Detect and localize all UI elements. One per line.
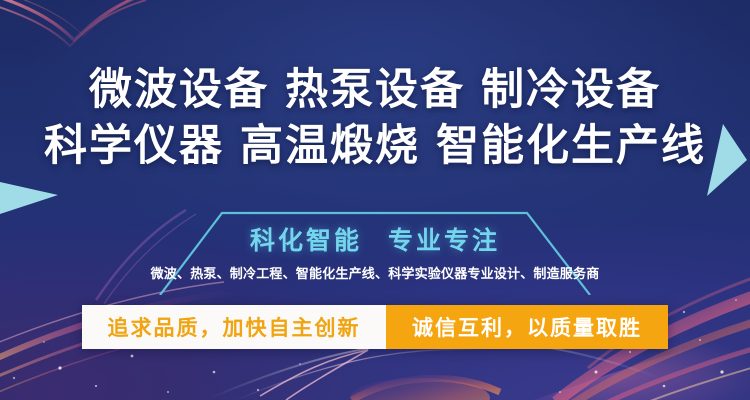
headline-line1-part3: 制冷设备 <box>481 66 661 114</box>
promo-banner: 微波设备热泵设备制冷设备 科学仪器高温煅烧智能化生产线 科化智能专业专注 微波、… <box>0 0 750 400</box>
headline-line-2: 科学仪器高温煅烧智能化生产线 <box>0 118 750 174</box>
slogan-subtitle: 微波、热泵、制冷工程、智能化生产线、科学实验仪器专业设计、制造服务商 <box>0 263 750 282</box>
slogan-cyan: 科化智能专业专注 <box>0 221 750 257</box>
slogan-block: 科化智能专业专注 微波、热泵、制冷工程、智能化生产线、科学实验仪器专业设计、制造… <box>0 203 750 295</box>
slogan-ribbon: 追求品质，加快自主创新 诚信互利，以质量取胜 <box>82 305 668 349</box>
headline-line2-part1: 科学仪器 <box>44 122 224 170</box>
headline-line2-part3: 智能化生产线 <box>436 122 706 170</box>
ribbon-right-text: 诚信互利，以质量取胜 <box>386 305 668 349</box>
ribbon-left-text: 追求品质，加快自主创新 <box>82 305 386 349</box>
headline-line-1: 微波设备热泵设备制冷设备 <box>0 62 750 118</box>
slogan-cyan-part1: 科化智能 <box>250 227 362 255</box>
headline-block: 微波设备热泵设备制冷设备 科学仪器高温煅烧智能化生产线 <box>0 62 750 174</box>
headline-line1-part2: 热泵设备 <box>285 66 465 114</box>
headline-line2-part2: 高温煅烧 <box>240 122 420 170</box>
headline-line1-part1: 微波设备 <box>89 66 269 114</box>
slogan-cyan-part2: 专业专注 <box>388 227 500 255</box>
